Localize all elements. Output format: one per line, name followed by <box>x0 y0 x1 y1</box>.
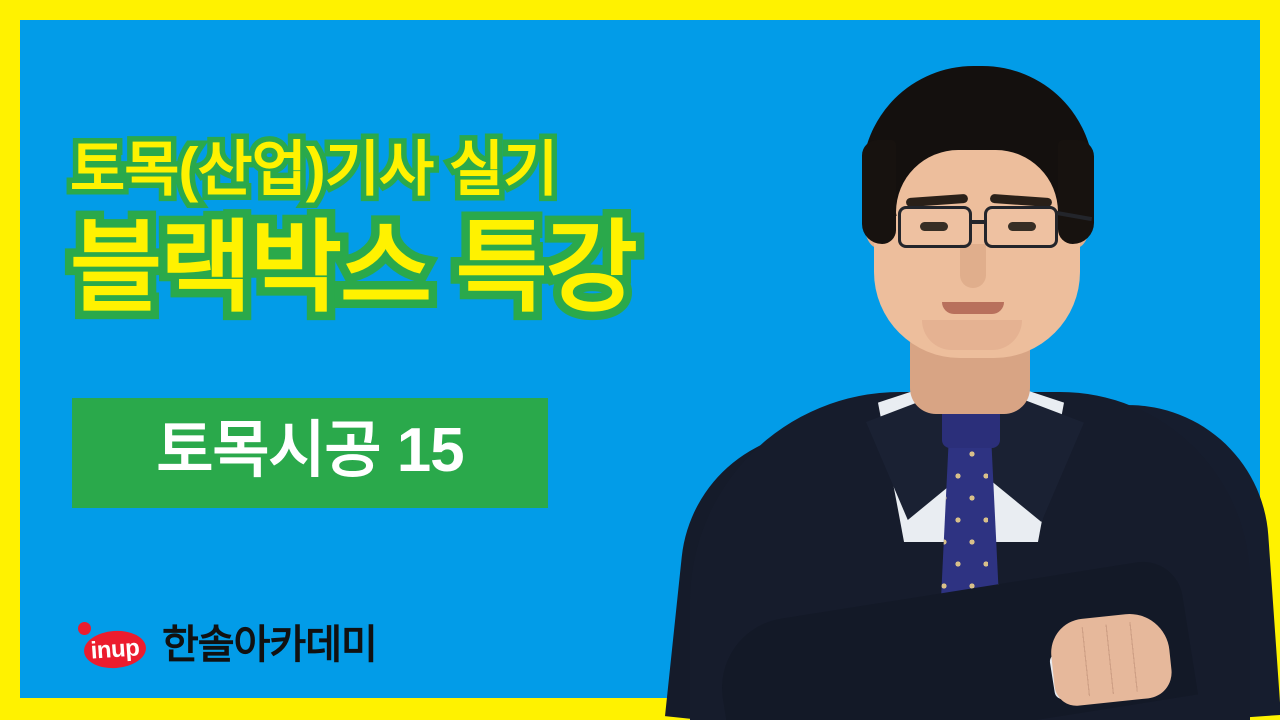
course-thumbnail: 토목(산업)기사 실기 블랙박스 특강 토목시공 15 inup 한솔아카데미 <box>0 0 1280 720</box>
subject-badge: 토목시공 15 <box>72 398 548 508</box>
course-kicker: 토목(산업)기사 실기 <box>70 140 860 200</box>
instructor-photo <box>660 0 1280 720</box>
subject-badge-label: 토목시공 15 <box>156 420 463 482</box>
hair-side-left <box>862 140 896 244</box>
brand-logo: inup 한솔아카데미 <box>78 617 377 673</box>
nose <box>960 244 986 288</box>
fingers <box>1061 619 1164 699</box>
chin <box>922 320 1022 350</box>
title-block: 토목(산업)기사 실기 블랙박스 특강 <box>70 140 860 318</box>
inup-wordmark: inup <box>83 629 147 670</box>
inup-logo-icon: inup <box>78 622 146 668</box>
glasses-lens-left <box>898 206 972 248</box>
mouth <box>942 302 1004 314</box>
hair-side-right <box>1058 140 1094 244</box>
glasses-bridge <box>970 220 986 224</box>
brand-name: 한솔아카데미 <box>162 625 377 665</box>
course-headline: 블랙박스 특강 <box>70 218 860 318</box>
glasses-lens-right <box>984 206 1058 248</box>
